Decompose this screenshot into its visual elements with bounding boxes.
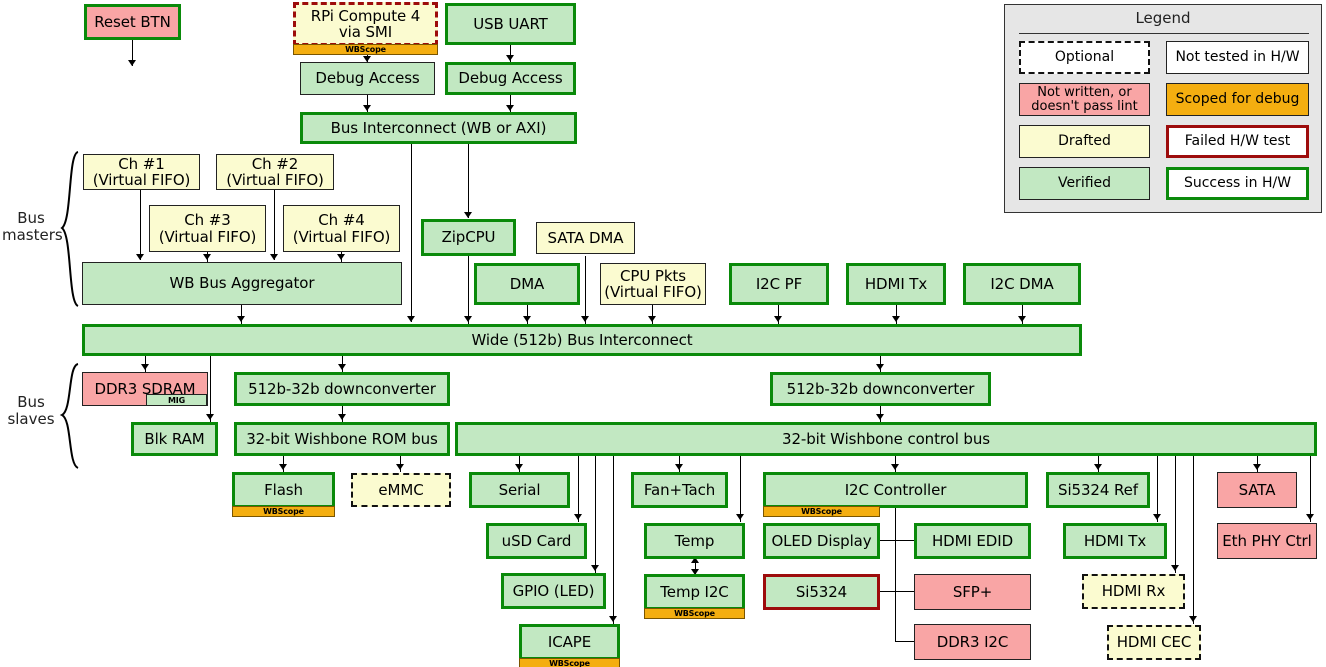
arrowhead	[270, 254, 278, 260]
connector-zipcpu-widebus	[468, 256, 469, 324]
arrowhead	[1253, 464, 1261, 470]
connector-widebus-blkram	[210, 356, 211, 422]
block-icape[interactable]: ICAPE	[519, 624, 620, 660]
block-sata[interactable]: SATA	[1217, 472, 1297, 508]
block-serial[interactable]: Serial	[469, 472, 570, 508]
block-temp-i2c[interactable]: Temp I2C	[644, 574, 745, 610]
legend-item-optional: Optional	[1019, 41, 1150, 74]
block-sfp-plus[interactable]: SFP+	[914, 574, 1031, 610]
block-rpi-compute-4[interactable]: RPi Compute 4 via SMI	[293, 2, 438, 46]
block-emmc[interactable]: eMMC	[351, 473, 451, 507]
block-wb-control-bus[interactable]: 32-bit Wishbone control bus	[455, 422, 1317, 456]
connector-controlbus-hdmitx	[1157, 456, 1158, 522]
block-debug-access-2[interactable]: Debug Access	[445, 62, 576, 95]
legend-item-verified: Verified	[1019, 167, 1150, 200]
block-flash[interactable]: Flash	[232, 472, 335, 508]
legend-item-success: Success in H/W	[1166, 167, 1309, 200]
block-eth-phy-ctrl[interactable]: Eth PHY Ctrl	[1217, 523, 1317, 559]
connector-ch1-agg	[140, 190, 141, 260]
arrowhead	[523, 316, 531, 322]
label-bus-masters: Bus masters	[2, 210, 60, 244]
block-usd-card[interactable]: uSD Card	[486, 523, 587, 559]
block-ch2[interactable]: Ch #2 (Virtual FIFO)	[216, 154, 334, 190]
arrowhead	[279, 464, 287, 470]
legend-panel: Legend Optional Not tested in H/W Not wr…	[1004, 4, 1322, 213]
connector-controlbus-hdmicec	[1193, 456, 1194, 624]
block-hdmi-tx-master[interactable]: HDMI Tx	[846, 263, 946, 305]
arrowhead	[206, 414, 214, 420]
arrowhead	[338, 364, 346, 370]
block-usb-uart[interactable]: USB UART	[445, 3, 576, 45]
connector-controlbus-usd	[578, 456, 579, 522]
arrowhead	[464, 316, 472, 322]
block-i2c-pf[interactable]: I2C PF	[729, 263, 829, 305]
block-si5324[interactable]: Si5324	[763, 574, 880, 610]
block-wb-bus-aggregator[interactable]: WB Bus Aggregator	[82, 262, 402, 305]
arrowhead	[1094, 464, 1102, 470]
legend-item-drafted: Drafted	[1019, 125, 1150, 158]
block-cpu-pkts[interactable]: CPU Pkts (Virtual FIFO)	[600, 263, 706, 305]
badge-wbscope-i2c-controller: WBScope	[763, 506, 880, 517]
block-ch3[interactable]: Ch #3 (Virtual FIFO)	[149, 205, 266, 252]
block-ch4[interactable]: Ch #4 (Virtual FIFO)	[283, 205, 400, 252]
arrowhead	[136, 254, 144, 260]
block-ch1[interactable]: Ch #1 (Virtual FIFO)	[83, 154, 200, 190]
arrowhead	[1306, 514, 1314, 520]
block-hdmi-tx-slave[interactable]: HDMI Tx	[1063, 523, 1167, 559]
block-hdmi-edid[interactable]: HDMI EDID	[914, 523, 1031, 559]
arrowhead	[1189, 616, 1197, 622]
arrowhead	[891, 464, 899, 470]
legend-title: Legend	[1005, 9, 1321, 27]
badge-wbscope-rpi: WBScope	[293, 44, 438, 55]
connector-controlbus-temp	[740, 456, 741, 522]
block-ddr3-i2c[interactable]: DDR3 I2C	[914, 624, 1031, 660]
block-blk-ram[interactable]: Blk RAM	[131, 422, 218, 456]
arrowhead	[736, 514, 744, 520]
arrowhead	[506, 55, 514, 61]
connector-i2c-branch-oled-edid	[878, 540, 914, 541]
block-downconverter-left[interactable]: 512b-32b downconverter	[234, 372, 450, 406]
arrowhead	[774, 316, 782, 322]
arrowhead	[648, 316, 656, 322]
arrowhead	[407, 316, 415, 322]
arrowhead	[337, 254, 345, 260]
block-si5324-ref[interactable]: Si5324 Ref	[1046, 472, 1150, 508]
arrowhead	[237, 316, 245, 322]
label-bus-slaves: Bus slaves	[2, 394, 60, 428]
legend-item-failed: Failed H/W test	[1166, 125, 1309, 158]
connector-i2c-branch-ddr3i2c	[895, 641, 914, 642]
connector-controlbus-ethphy	[1310, 456, 1311, 522]
arrowhead	[464, 212, 472, 218]
block-temp[interactable]: Temp	[644, 523, 745, 559]
arrowhead	[128, 60, 136, 66]
block-gpio-led[interactable]: GPIO (LED)	[501, 573, 606, 609]
badge-mig-ddr3: MIG	[146, 394, 207, 406]
connector-businterconnect-zipcpu	[468, 144, 469, 218]
arrowhead	[515, 464, 523, 470]
connector-controlbus-gpio	[595, 456, 596, 573]
block-debug-access-1[interactable]: Debug Access	[300, 62, 435, 95]
block-wb-rom-bus[interactable]: 32-bit Wishbone ROM bus	[234, 422, 450, 456]
arrowhead	[675, 464, 683, 470]
arrowhead	[1018, 316, 1026, 322]
legend-item-not-tested: Not tested in H/W	[1166, 41, 1309, 74]
block-reset-btn[interactable]: Reset BTN	[84, 4, 181, 40]
arrowhead	[1153, 514, 1161, 520]
block-i2c-dma[interactable]: I2C DMA	[963, 263, 1081, 305]
connector-controlbus-hdmirx	[1175, 456, 1176, 573]
block-zipcpu[interactable]: ZipCPU	[421, 219, 516, 256]
connector-i2c-tree-trunk	[895, 506, 896, 641]
arrowhead	[581, 316, 589, 322]
connector-ch2-agg	[274, 190, 275, 260]
block-wide-bus-interconnect[interactable]: Wide (512b) Bus Interconnect	[82, 324, 1082, 356]
connector-controlbus-icape	[613, 456, 614, 624]
block-fan-tach[interactable]: Fan+Tach	[631, 472, 728, 508]
block-dma[interactable]: DMA	[474, 263, 580, 305]
block-oled-display[interactable]: OLED Display	[763, 523, 880, 559]
block-diagram-canvas: Reset BTN RPi Compute 4 via SMI WBScope …	[0, 0, 1326, 667]
badge-wbscope-temp-i2c: WBScope	[644, 608, 745, 619]
arrowhead	[363, 105, 371, 111]
block-downconverter-right[interactable]: 512b-32b downconverter	[770, 372, 991, 406]
arrowhead	[876, 364, 884, 370]
arrowhead	[574, 514, 582, 520]
connector-businterconnect-widebus	[411, 144, 412, 322]
badge-wbscope-flash: WBScope	[232, 506, 335, 517]
legend-divider	[1019, 33, 1309, 34]
block-hdmi-rx[interactable]: HDMI Rx	[1082, 574, 1185, 609]
connector-i2c-branch-si5324-sfp	[878, 591, 914, 592]
arrowhead	[876, 414, 884, 420]
connector-satadma-widebus	[585, 256, 586, 324]
badge-wbscope-icape: WBScope	[519, 658, 620, 667]
arrowhead	[396, 464, 404, 470]
legend-item-scoped: Scoped for debug	[1166, 83, 1309, 116]
arrowhead	[609, 616, 617, 622]
block-sata-dma[interactable]: SATA DMA	[536, 222, 635, 254]
arrowhead	[141, 364, 149, 370]
arrowhead	[892, 316, 900, 322]
arrowhead	[591, 565, 599, 571]
arrowhead	[1171, 565, 1179, 571]
block-bus-interconnect[interactable]: Bus Interconnect (WB or AXI)	[300, 112, 577, 144]
block-i2c-controller[interactable]: I2C Controller	[763, 472, 1028, 508]
arrowhead	[203, 254, 211, 260]
brace-bus-slaves	[58, 362, 82, 472]
arrowhead	[506, 105, 514, 111]
legend-item-not-written: Not written, or doesn't pass lint	[1019, 83, 1150, 116]
block-hdmi-cec[interactable]: HDMI CEC	[1107, 625, 1201, 660]
arrowhead	[338, 414, 346, 420]
